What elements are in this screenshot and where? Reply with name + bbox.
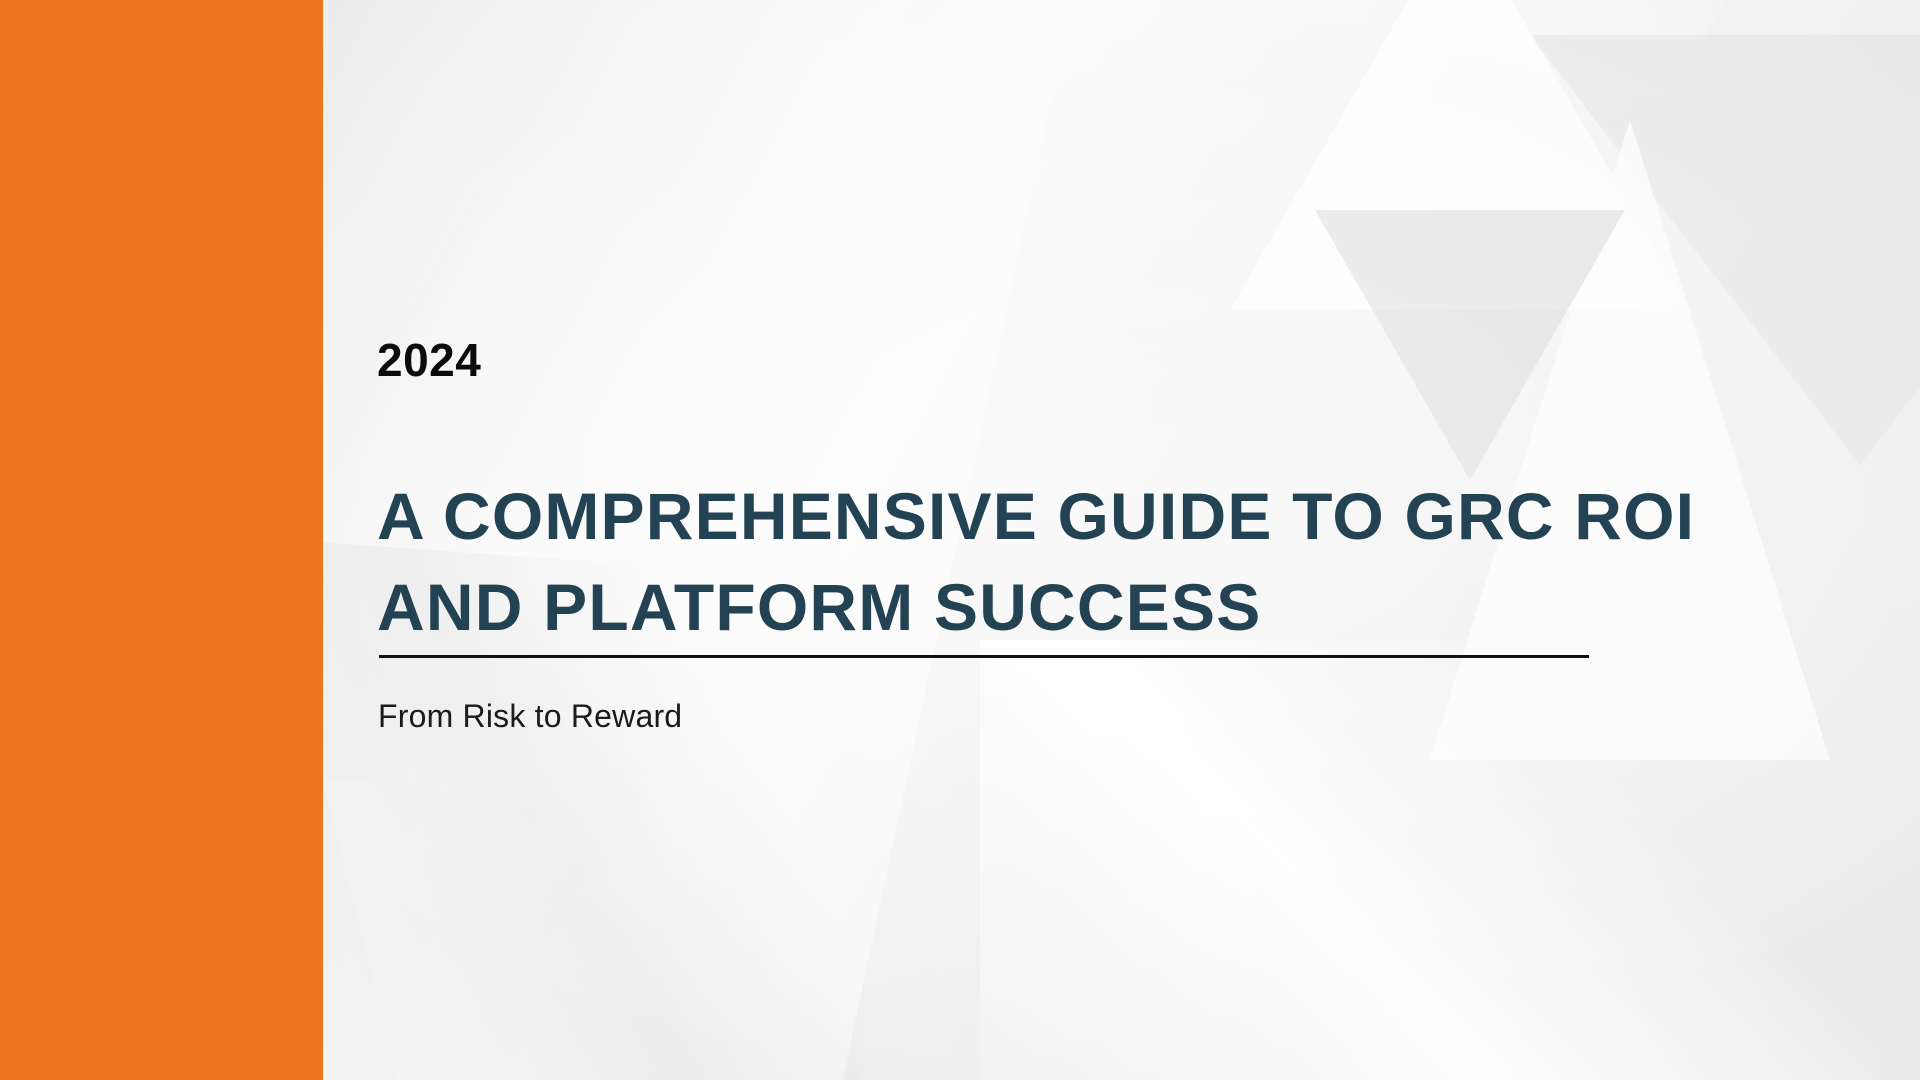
accent-bar [0, 0, 323, 1080]
title-divider [379, 655, 1589, 658]
page-title: A COMPREHENSIVE GUIDE TO GRC ROI AND PLA… [377, 471, 1797, 653]
page-subtitle: From Risk to Reward [378, 697, 682, 735]
title-slide: 2024 A COMPREHENSIVE GUIDE TO GRC ROI AN… [0, 0, 1920, 1080]
year-label: 2024 [377, 337, 481, 383]
title-block: 2024 A COMPREHENSIVE GUIDE TO GRC ROI AN… [377, 0, 1677, 1080]
